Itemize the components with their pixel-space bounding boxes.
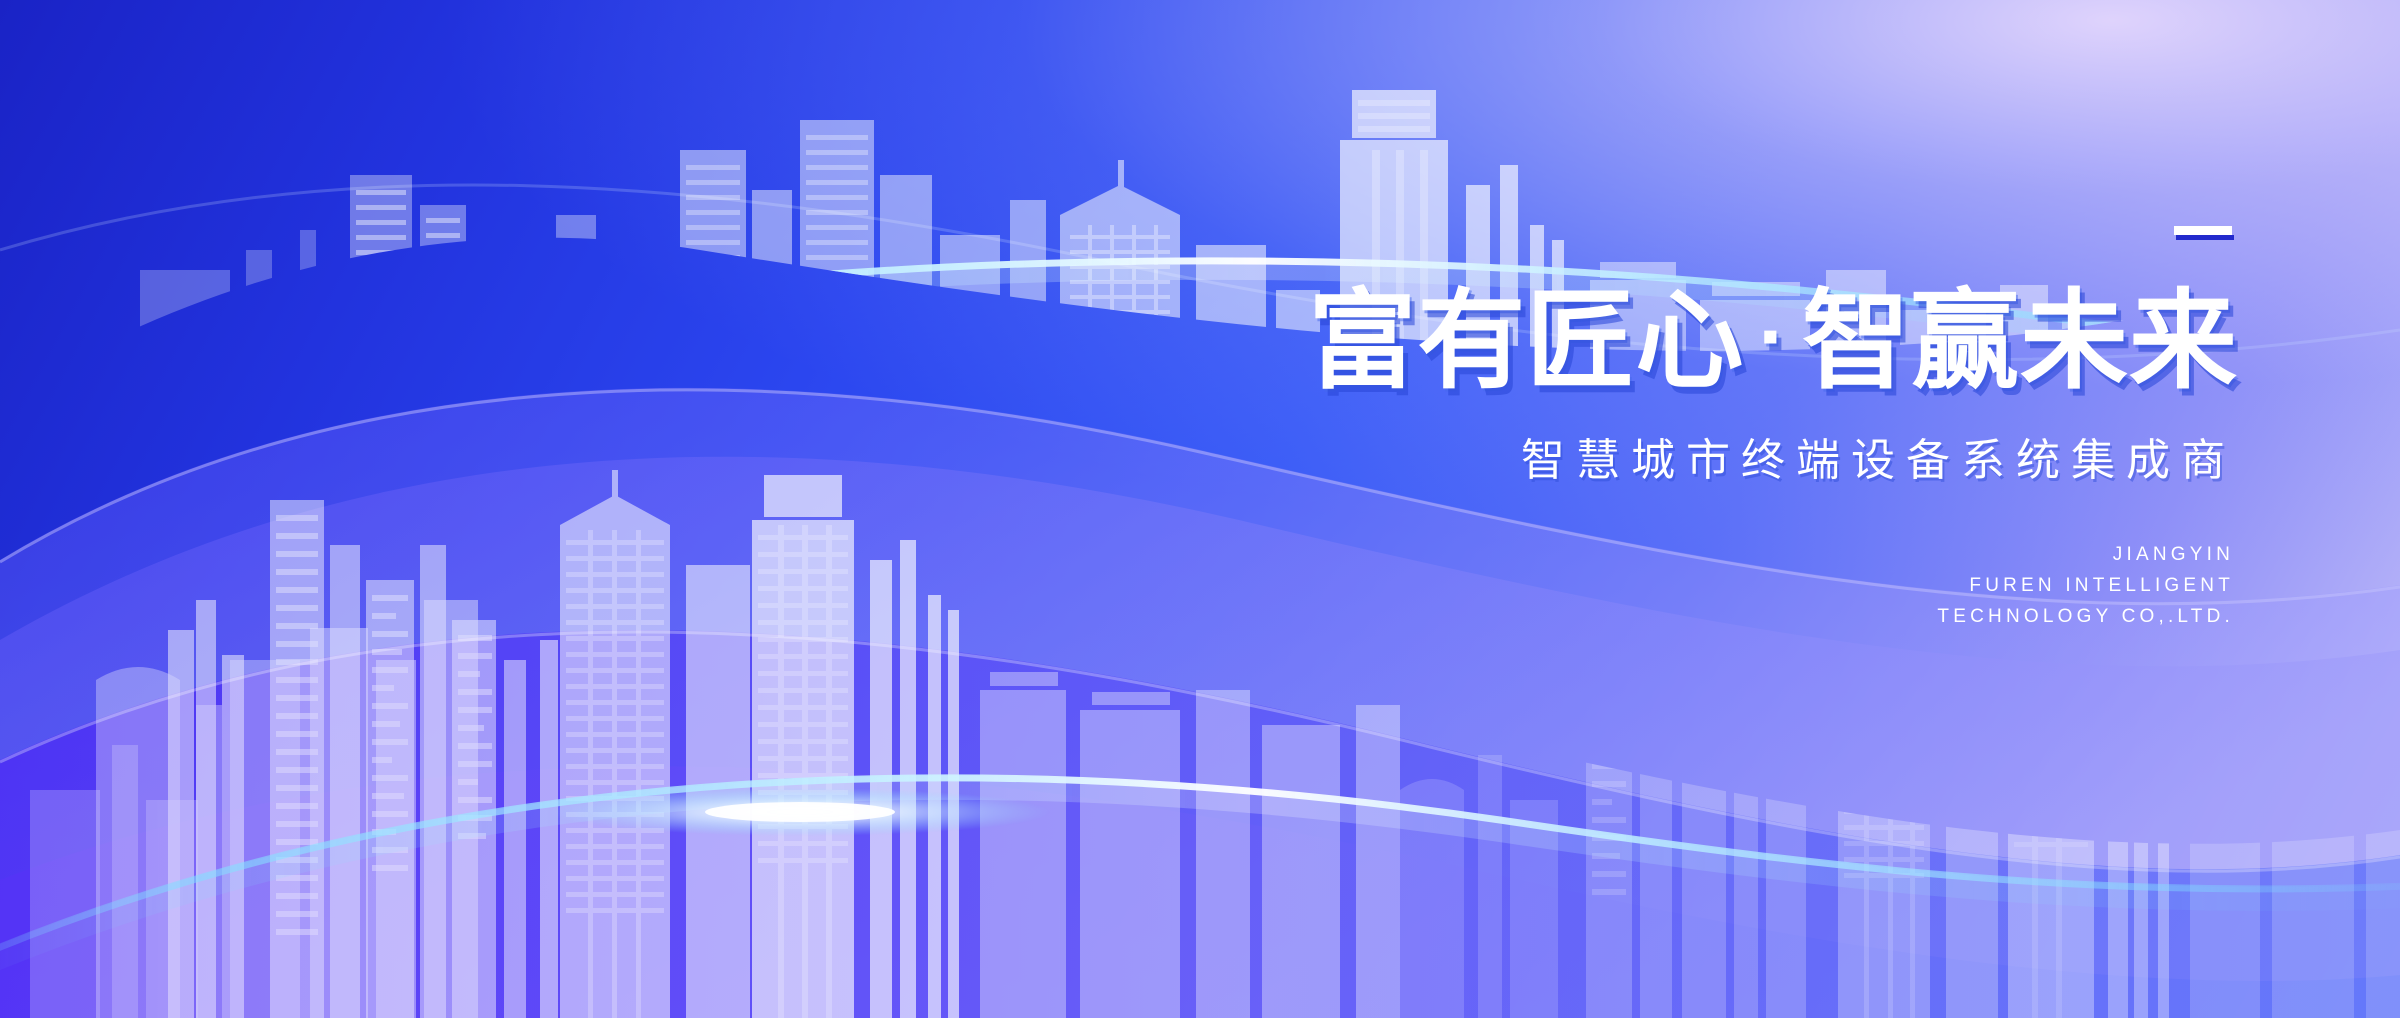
page-subtitle: 智慧城市终端设备系统集成商 [1038,424,2238,488]
accent-dash-icon [2174,226,2232,235]
title-right: 智赢未来 [1802,280,2238,401]
company-name-en: JIANGYIN FUREN INTELLIGENT TECHNOLOGY CO… [1038,540,2238,632]
title-separator: · [1744,289,1802,385]
page-title: 富有匠心·智赢未来 [1038,284,2238,398]
promo-banner: 富有匠心·智赢未来 智慧城市终端设备系统集成商 JIANGYIN FUREN I… [0,0,2400,1018]
title-left: 富有匠心 [1308,280,1744,401]
headline-block: 富有匠心·智赢未来 智慧城市终端设备系统集成商 JIANGYIN FUREN I… [1038,222,2238,633]
company-line-2: FUREN INTELLIGENT [1038,571,2234,602]
company-line-3: TECHNOLOGY CO,.LTD. [1038,602,2234,633]
company-line-1: JIANGYIN [1038,540,2234,571]
